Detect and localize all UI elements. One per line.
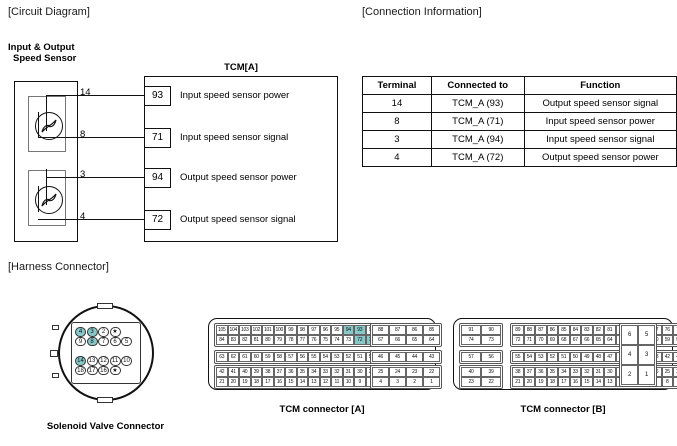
solenoid-pin[interactable]: 13 — [87, 356, 98, 366]
solenoid-pin[interactable]: 4 — [75, 327, 86, 337]
tcm-b-pin-cell[interactable]: 33 — [570, 367, 582, 377]
tcm-a-shell: 1051041031021011009998979695949392919089… — [208, 318, 436, 390]
tcm-b-pin-row: 2322 — [461, 377, 501, 387]
tcm-connector-b: 91907473 8988878685848382818079787776757… — [453, 318, 673, 415]
tcm-b-pin-row: 43 — [621, 345, 655, 365]
tcm-b-pin-cell[interactable]: 58 — [673, 335, 677, 345]
solenoid-pin[interactable]: 16 — [98, 366, 109, 376]
tcm-a-pin-cell[interactable]: 82 — [239, 335, 251, 345]
tcm-a-pin-cell[interactable]: 41 — [228, 367, 240, 377]
tcm-b-left1: 91907473 — [459, 323, 503, 347]
tcm-b-pin-cell[interactable]: 48 — [593, 352, 605, 362]
solenoid-pin[interactable]: 7 — [98, 337, 109, 347]
tcm-b-pin-row: 21 — [621, 365, 655, 385]
sensor-lead-4 — [38, 186, 39, 212]
tcm-a-block3-right: 252423224321 — [370, 365, 442, 389]
tcm-a-pin-cell[interactable]: 39 — [251, 367, 263, 377]
connection-table: Terminal Connected to Function 14TCM_A (… — [362, 76, 677, 167]
tcm-a-pin-cell[interactable]: 79 — [274, 335, 286, 345]
tcm-b-pin-cell[interactable]: 21 — [512, 377, 524, 387]
table-cell: 4 — [363, 149, 432, 167]
tcm-pin-72-description: Output speed sensor signal — [180, 210, 296, 230]
solenoid-pin[interactable]: ★ — [110, 366, 121, 376]
tcm-a-pin-cell[interactable]: 97 — [308, 325, 320, 335]
tcm-a-pin-row: 4321 — [372, 377, 440, 387]
table-cell: 14 — [363, 95, 432, 113]
tcm-b-pin-cell[interactable]: 20 — [524, 377, 536, 387]
tcm-a-pin-cell[interactable]: 37 — [274, 367, 286, 377]
tcm-a-pin-cell[interactable]: 35 — [297, 367, 309, 377]
tcm-a-pin-cell[interactable]: 17 — [262, 377, 274, 387]
table-cell: TCM_A (71) — [431, 113, 524, 131]
tcm-b-pin-cell[interactable]: 15 — [581, 377, 593, 387]
terminal-number-3: 3 — [80, 169, 85, 180]
table-row: 8TCM_A (71)Input speed sensor power — [363, 113, 677, 131]
tcm-a-title: TCM[A] — [144, 62, 338, 73]
tcm-a-pin-cell[interactable]: 21 — [216, 377, 228, 387]
tcm-b-pin-cell[interactable]: 6 — [621, 325, 638, 345]
tcm-a-pin-cell[interactable]: 30 — [354, 367, 366, 377]
tcm-b-pin-cell[interactable]: 75 — [673, 325, 677, 335]
terminal-number-8: 8 — [80, 129, 85, 140]
wire-14-to-93 — [46, 95, 144, 96]
tcm-b-pin-cell[interactable]: 83 — [581, 325, 593, 335]
solenoid-pin[interactable]: ★ — [110, 327, 121, 337]
tcm-b-pin-cell[interactable]: 25 — [662, 367, 674, 377]
tcm-a-pin-cell[interactable]: 104 — [228, 325, 240, 335]
tcm-b-pin-cell[interactable]: 56 — [481, 352, 501, 362]
tcm-b-pin-cell[interactable]: 82 — [593, 325, 605, 335]
tcm-a-pin-cell[interactable]: 24 — [389, 367, 406, 377]
tcm-b-pin-cell[interactable]: 37 — [524, 367, 536, 377]
tcm-a-pin-cell[interactable]: 105 — [216, 325, 228, 335]
connection-information-heading: [Connection Information] — [362, 6, 482, 18]
solenoid-pin[interactable]: 5 — [121, 337, 132, 347]
wire-3-to-94 — [46, 177, 144, 178]
table-cell: 8 — [363, 113, 432, 131]
tcm-b-pin-cell[interactable]: 8 — [662, 377, 674, 387]
tcm-b-pin-row: 5756 — [461, 352, 501, 362]
tcm-pin-71: 71 — [145, 128, 171, 148]
sensor-label-line2: Speed Sensor — [13, 53, 76, 64]
circuit-diagram: Input & Output Speed Sensor — [0, 0, 350, 265]
wire-4-to-72 — [38, 219, 144, 220]
solenoid-pin[interactable]: 9 — [75, 337, 86, 347]
tcm-a-pin-cell[interactable]: 83 — [228, 335, 240, 345]
terminal-number-4: 4 — [80, 211, 85, 222]
tcm-a-pin-cell[interactable]: 40 — [239, 367, 251, 377]
tcm-a-pin-cell[interactable]: 98 — [297, 325, 309, 335]
solenoid-tab-left-lower — [52, 373, 59, 378]
tcm-a-pin-cell[interactable]: 60 — [251, 352, 263, 362]
solenoid-pin[interactable]: 2 — [98, 327, 109, 337]
solenoid-pin[interactable]: 3 — [87, 327, 98, 337]
tcm-b-pin-cell[interactable]: 30 — [604, 367, 616, 377]
tcm-a-pin-row: 25242322 — [372, 367, 440, 377]
tcm-b-pin-cell[interactable]: 71 — [524, 335, 536, 345]
tcm-a-block1-right: 8887868567666564 — [370, 323, 442, 347]
tcm-a-pin-cell[interactable]: 9 — [354, 377, 366, 387]
tcm-b-pin-cell[interactable]: 88 — [524, 325, 536, 335]
header-connected-to: Connected to — [431, 77, 524, 95]
tcm-a-pin-cell[interactable]: 96 — [320, 325, 332, 335]
tcm-b-pin-cell[interactable]: 84 — [570, 325, 582, 335]
table-row: 3TCM_A (94)Input speed sensor signal — [363, 131, 677, 149]
table-header-row: Terminal Connected to Function — [363, 77, 677, 95]
tcm-a-pin-cell[interactable]: 12 — [320, 377, 332, 387]
tcm-pin-71-description: Input speed sensor signal — [180, 128, 288, 148]
tcm-a-pin-cell[interactable]: 99 — [285, 325, 297, 335]
tcm-a-pin-cell[interactable]: 65 — [406, 335, 423, 345]
tcm-a-pin-cell[interactable]: 95 — [331, 325, 343, 335]
tcm-a-pin-row: 67666564 — [372, 335, 440, 345]
tcm-b-left3: 40392322 — [459, 365, 503, 389]
solenoid-tab-left-upper — [52, 325, 59, 330]
tcm-b-pin-cell[interactable]: 2 — [621, 365, 638, 385]
tcm-a-pin-cell[interactable]: 76 — [308, 335, 320, 345]
header-terminal: Terminal — [363, 77, 432, 95]
solenoid-connector-caption: Solenoid Valve Connector — [18, 421, 193, 432]
tcm-b-pin-cell[interactable]: 40 — [461, 367, 481, 377]
tcm-a-pin-cell[interactable]: 81 — [251, 335, 263, 345]
tcm-b-pin-cell[interactable]: 64 — [604, 335, 616, 345]
tcm-b-pin-cell[interactable]: 81 — [604, 325, 616, 335]
tcm-a-pin-cell[interactable]: 58 — [274, 352, 286, 362]
tcm-b-pin-cell[interactable]: 1 — [638, 365, 655, 385]
tcm-b-pin-cell[interactable]: 17 — [558, 377, 570, 387]
tcm-b-pin-cell[interactable]: 55 — [512, 352, 524, 362]
solenoid-pin-group-top: 432★98765 — [75, 327, 133, 346]
tcm-a-pin-cell[interactable]: 101 — [262, 325, 274, 335]
tcm-a-pin-cell[interactable]: 33 — [320, 367, 332, 377]
tcm-b-pin-cell[interactable]: 89 — [512, 325, 524, 335]
table-cell: Output speed sensor power — [524, 149, 676, 167]
tcm-b-pin-cell[interactable]: 67 — [570, 335, 582, 345]
tcm-b-pin-row: 65 — [621, 325, 655, 345]
table-cell: TCM_A (72) — [431, 149, 524, 167]
tcm-b-pin-cell[interactable]: 50 — [570, 352, 582, 362]
solenoid-pin[interactable]: 10 — [121, 356, 132, 366]
tcm-pin-93: 93 — [145, 86, 171, 106]
tcm-a-pin-cell[interactable]: 72 — [354, 335, 366, 345]
table-row: 14TCM_A (93)Output speed sensor signal — [363, 95, 677, 113]
tcm-a-pin-row: 88878685 — [372, 325, 440, 335]
solenoid-pin-row: 432★ — [75, 327, 133, 337]
tcm-b-pin-cell[interactable]: 59 — [662, 335, 674, 345]
tcm-a-caption: TCM connector [A] — [208, 404, 436, 415]
tcm-b-pin-cell[interactable]: 22 — [481, 377, 501, 387]
solenoid-pin[interactable]: 18 — [75, 366, 86, 376]
tcm-a-pin-cell[interactable]: 66 — [389, 335, 406, 345]
tcm-a-pin-cell[interactable]: 32 — [331, 367, 343, 377]
tcm-a-pin-cell[interactable]: 13 — [308, 377, 320, 387]
tcm-a-pin-cell[interactable]: 102 — [251, 325, 263, 335]
tcm-a-pin-cell[interactable]: 100 — [274, 325, 286, 335]
tcm-a-pin-cell[interactable]: 42 — [216, 367, 228, 377]
tcm-b-pin-cell[interactable]: 57 — [461, 352, 481, 362]
tcm-a-pin-cell[interactable]: 63 — [216, 352, 228, 362]
tcm-a-pin-cell[interactable]: 64 — [423, 335, 440, 345]
header-function: Function — [524, 77, 676, 95]
table-row: 4TCM_A (72)Output speed sensor power — [363, 149, 677, 167]
tcm-a-pin-cell[interactable]: 61 — [239, 352, 251, 362]
tcm-b-pin-cell[interactable]: 53 — [535, 352, 547, 362]
sensor-lead-14 — [46, 95, 47, 131]
tcm-b-pin-cell[interactable]: 14 — [593, 377, 605, 387]
tcm-a-pin-cell[interactable]: 46 — [372, 352, 389, 362]
input-speed-sensor-icon — [35, 112, 63, 140]
tcm-a-block2-right: 46454443 — [370, 350, 442, 364]
tcm-a-pin-cell[interactable]: 57 — [285, 352, 297, 362]
tcm-pin-72: 72 — [145, 210, 171, 230]
tcm-a-pin-cell[interactable]: 45 — [389, 352, 406, 362]
solenoid-pin-group-bottom: 1413121110181716★ — [75, 356, 133, 375]
solenoid-pin[interactable]: 14 — [75, 356, 86, 366]
tcm-b-pin-cell[interactable]: 52 — [547, 352, 559, 362]
tcm-pin-93-description: Input speed sensor power — [180, 86, 289, 106]
tcm-b-pin-cell[interactable]: 54 — [524, 352, 536, 362]
tcm-a-pin-cell[interactable]: 74 — [331, 335, 343, 345]
tcm-a-pin-cell[interactable]: 77 — [297, 335, 309, 345]
tcm-b-right: 654321 — [619, 323, 657, 387]
wire-8-to-71 — [38, 137, 144, 138]
table-cell: Input speed sensor signal — [524, 131, 676, 149]
tcm-a-pin-cell[interactable]: 11 — [331, 377, 343, 387]
tcm-b-pin-cell[interactable]: 31 — [593, 367, 605, 377]
tcm-a-pin-cell[interactable]: 1 — [423, 377, 440, 387]
tcm-b-pin-cell[interactable]: 38 — [512, 367, 524, 377]
tcm-b-pin-cell[interactable]: 13 — [604, 377, 616, 387]
solenoid-valve-connector: 432★98765 1413121110181716★ Solenoid Val… — [40, 303, 170, 403]
tcm-b-pin-cell[interactable]: 66 — [581, 335, 593, 345]
tcm-b-pin-row: 9190 — [461, 325, 501, 335]
tcm-b-pin-cell[interactable]: 36 — [535, 367, 547, 377]
solenoid-pin[interactable]: 8 — [87, 337, 98, 347]
tcm-b-pin-cell[interactable]: 3 — [638, 345, 655, 365]
tcm-a-pin-cell[interactable]: 88 — [372, 325, 389, 335]
tcm-b-pin-cell[interactable]: 72 — [512, 335, 524, 345]
tcm-a-pin-cell[interactable]: 44 — [406, 352, 423, 362]
tcm-a-pin-cell[interactable]: 53 — [331, 352, 343, 362]
solenoid-tab-bottom — [97, 397, 113, 403]
tcm-b-pin-cell[interactable]: 69 — [547, 335, 559, 345]
tcm-b-left2: 5756 — [459, 350, 503, 364]
tcm-b-pin-cell[interactable]: 87 — [535, 325, 547, 335]
table-cell: TCM_A (93) — [431, 95, 524, 113]
tcm-b-pin-cell[interactable]: 49 — [581, 352, 593, 362]
solenoid-pin-plate: 432★98765 1413121110181716★ — [71, 322, 141, 384]
tcm-b-pin-cell[interactable]: 74 — [461, 335, 481, 345]
tcm-b-pin-cell[interactable]: 7 — [673, 377, 677, 387]
tcm-b-pin-cell[interactable]: 51 — [558, 352, 570, 362]
table-cell: TCM_A (94) — [431, 131, 524, 149]
solenoid-pin[interactable]: 12 — [98, 356, 109, 366]
tcm-b-pin-cell[interactable]: 34 — [558, 367, 570, 377]
tcm-b-caption: TCM connector [B] — [453, 404, 673, 415]
tcm-b-pin-row: 7473 — [461, 335, 501, 345]
tcm-a-pin-cell[interactable]: 36 — [285, 367, 297, 377]
tcm-b-pin-row: 4039 — [461, 367, 501, 377]
tcm-a-pin-cell[interactable]: 22 — [423, 367, 440, 377]
tcm-b-pin-cell[interactable]: 19 — [535, 377, 547, 387]
solenoid-pin[interactable]: 11 — [110, 356, 121, 366]
tcm-a-pin-cell[interactable]: 16 — [274, 377, 286, 387]
output-speed-sensor-icon — [35, 186, 63, 214]
tcm-a-pin-cell[interactable]: 2 — [406, 377, 423, 387]
tcm-b-pin-cell[interactable]: 42 — [662, 352, 674, 362]
terminal-number-14: 14 — [80, 87, 91, 98]
tcm-b-pin-cell[interactable]: 65 — [593, 335, 605, 345]
tcm-b-pin-cell[interactable]: 90 — [481, 325, 501, 335]
tcm-pin-94: 94 — [145, 168, 171, 188]
tcm-a-pin-cell[interactable]: 75 — [320, 335, 332, 345]
tcm-b-pin-cell[interactable]: 35 — [547, 367, 559, 377]
solenoid-pin[interactable]: 17 — [87, 366, 98, 376]
sensor-lead-3 — [46, 169, 47, 205]
tcm-a-pin-cell[interactable]: 67 — [372, 335, 389, 345]
tcm-b-pin-cell[interactable]: 70 — [535, 335, 547, 345]
tcm-a-pin-cell[interactable]: 94 — [343, 325, 355, 335]
tcm-a-pin-cell[interactable]: 80 — [262, 335, 274, 345]
tcm-b-pin-cell[interactable]: 85 — [558, 325, 570, 335]
tcm-pin-94-description: Output speed sensor power — [180, 168, 297, 188]
tcm-a-pin-cell[interactable]: 85 — [423, 325, 440, 335]
connection-information-table: Terminal Connected to Function 14TCM_A (… — [362, 76, 677, 167]
tcm-a-pin-cell[interactable]: 25 — [372, 367, 389, 377]
tcm-a-pin-cell[interactable]: 93 — [354, 325, 366, 335]
tcm-a-pin-cell[interactable]: 10 — [343, 377, 355, 387]
tcm-a-pin-cell[interactable]: 20 — [228, 377, 240, 387]
tcm-b-shell: 91907473 8988878685848382818079787776757… — [453, 318, 673, 390]
tcm-b-pin-cell[interactable]: 32 — [581, 367, 593, 377]
tcm-a-pin-cell[interactable]: 38 — [262, 367, 274, 377]
tcm-a-pin-cell[interactable]: 55 — [308, 352, 320, 362]
tcm-a-pin-cell[interactable]: 84 — [216, 335, 228, 345]
tcm-a-pin-cell[interactable]: 59 — [262, 352, 274, 362]
table-cell: 3 — [363, 131, 432, 149]
tcm-a-pin-cell[interactable]: 19 — [239, 377, 251, 387]
tcm-b-pin-cell[interactable]: 76 — [662, 325, 674, 335]
tcm-a-pin-cell[interactable]: 15 — [285, 377, 297, 387]
solenoid-pin-row: 98765 — [75, 337, 133, 347]
tcm-a-pin-cell[interactable]: 14 — [297, 377, 309, 387]
solenoid-tab-left-mid — [50, 350, 58, 357]
tcm-a-pin-cell[interactable]: 52 — [343, 352, 355, 362]
tcm-b-pin-cell[interactable]: 91 — [461, 325, 481, 335]
tcm-b-pin-cell[interactable]: 41 — [673, 352, 677, 362]
tcm-a-pin-cell[interactable]: 86 — [406, 325, 423, 335]
tcm-a-pin-cell[interactable]: 73 — [343, 335, 355, 345]
tcm-a-pin-cell[interactable]: 56 — [297, 352, 309, 362]
tcm-a-pin-cell[interactable]: 103 — [239, 325, 251, 335]
tcm-b-pin-cell[interactable]: 23 — [461, 377, 481, 387]
tcm-b-pin-cell[interactable]: 24 — [673, 367, 677, 377]
solenoid-pin[interactable]: 6 — [110, 337, 121, 347]
tcm-b-pin-cell[interactable]: 16 — [570, 377, 582, 387]
tcm-a-pin-cell[interactable]: 34 — [308, 367, 320, 377]
solenoid-tab-top — [97, 303, 113, 309]
tcm-a-pin-cell[interactable]: 62 — [228, 352, 240, 362]
solenoid-pin-row: 1413121110 — [75, 356, 133, 366]
tcm-b-pin-cell[interactable]: 4 — [621, 345, 638, 365]
tcm-a-pin-cell[interactable]: 4 — [372, 377, 389, 387]
tcm-b-pin-cell[interactable]: 68 — [558, 335, 570, 345]
tcm-a-pin-cell[interactable]: 23 — [406, 367, 423, 377]
tcm-a-pin-cell[interactable]: 51 — [354, 352, 366, 362]
tcm-b-pin-cell[interactable]: 73 — [481, 335, 501, 345]
tcm-a-pin-cell[interactable]: 31 — [343, 367, 355, 377]
solenoid-pin-row: 181716★ — [75, 366, 133, 376]
tcm-connector-a: 1051041031021011009998979695949392919089… — [208, 318, 436, 415]
table-cell: Output speed sensor signal — [524, 95, 676, 113]
tcm-a-pin-cell[interactable]: 78 — [285, 335, 297, 345]
table-cell: Input speed sensor power — [524, 113, 676, 131]
tcm-b-pin-cell[interactable]: 18 — [547, 377, 559, 387]
tcm-b-pin-cell[interactable]: 5 — [638, 325, 655, 345]
tcm-b-pin-cell[interactable]: 47 — [604, 352, 616, 362]
tcm-a-pin-row: 46454443 — [372, 352, 440, 362]
tcm-a-pin-cell[interactable]: 43 — [423, 352, 440, 362]
tcm-b-pin-cell[interactable]: 86 — [547, 325, 559, 335]
tcm-a-pin-cell[interactable]: 87 — [389, 325, 406, 335]
tcm-b-pin-cell[interactable]: 39 — [481, 367, 501, 377]
sensor-label-line1: Input & Output — [8, 42, 74, 53]
sensor-lead-8 — [38, 112, 39, 137]
tcm-a-pin-cell[interactable]: 18 — [251, 377, 263, 387]
tcm-a-pin-cell[interactable]: 3 — [389, 377, 406, 387]
tcm-a-pin-cell[interactable]: 54 — [320, 352, 332, 362]
